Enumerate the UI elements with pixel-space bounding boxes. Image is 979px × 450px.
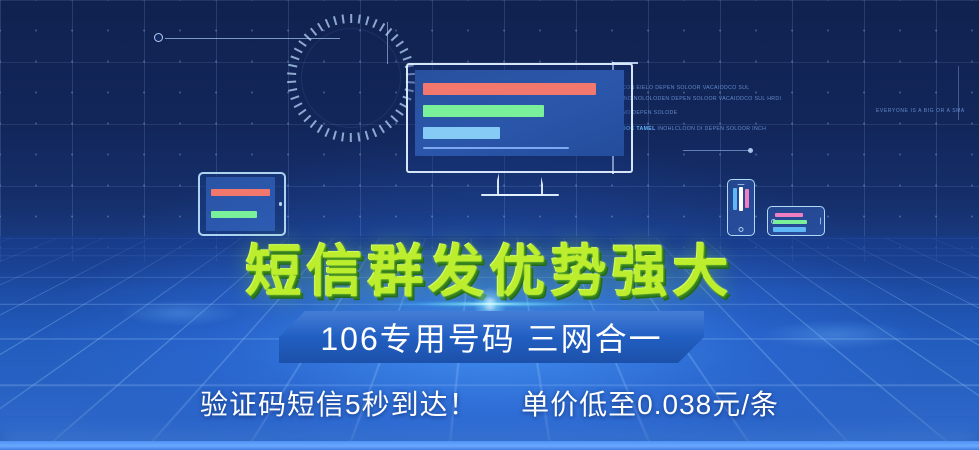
ring-tick (403, 56, 412, 61)
ring-tick (350, 133, 352, 142)
blueprint-line-2: INDINOLOLODEN DEPEN SOLOOR VACAIODCO SUL… (622, 95, 802, 104)
ring-tick (290, 96, 299, 101)
phone-landscape-frame (767, 206, 825, 236)
subline-left: 验证码短信5秒到达！ (200, 389, 478, 420)
ring-tick (372, 19, 377, 28)
tablet-home-button-icon (279, 202, 282, 205)
phone-landscape (767, 206, 825, 236)
ring-tick (294, 103, 303, 109)
phone-landscape-bar-2 (773, 220, 807, 224)
ring-tick (391, 115, 399, 122)
ring-tick (298, 109, 306, 115)
blueprint-line-3: NO DEPEN SOLODE (622, 109, 802, 118)
ring-tick (317, 125, 323, 134)
ring-inner-circle (301, 28, 401, 128)
blueprint-underline (683, 150, 751, 151)
monitor-bar-3 (423, 127, 500, 139)
ring-tick (325, 19, 330, 28)
ring-tick (317, 23, 323, 32)
blueprint-line-1: CON EIELO DEPEN SOLOOR VACAIODCO SUL (622, 84, 802, 93)
monitor-screen (415, 70, 624, 156)
phone-portrait (727, 179, 755, 236)
phone-home-button-icon (739, 227, 744, 232)
tablet-device (198, 172, 286, 236)
phone-landscape-bar-3 (773, 227, 806, 231)
ring-tick (288, 88, 297, 91)
bottom-highlight-band (0, 441, 979, 450)
ribbon-label: 106专用号码 三网合一 (279, 311, 704, 363)
ring-tick (379, 23, 385, 32)
tablet-bar-2 (211, 211, 257, 218)
ring-tick (304, 115, 312, 122)
ring-tick (333, 131, 337, 140)
ring-tick (287, 73, 296, 75)
subline-text: 验证码短信5秒到达！ 单价低至0.038元/条 (0, 383, 979, 423)
ring-tick (379, 125, 385, 134)
connector-drop-line (387, 22, 388, 64)
ring-tick (358, 132, 361, 141)
connector-dot-icon (154, 33, 163, 42)
phone-portrait-bar-3 (745, 189, 749, 208)
monitor-stand-base (481, 194, 559, 196)
phone-speaker-icon (738, 184, 745, 185)
headline-text: 短信群发优势强大 (0, 244, 979, 300)
ring-tick (385, 120, 392, 128)
ring-tick (287, 81, 296, 83)
phone-portrait-frame (727, 179, 755, 236)
ring-tick (372, 128, 377, 137)
monitor-stand-neck (497, 172, 543, 196)
sms-promo-banner: CON EIELO DEPEN SOLOOR VACAIODCO SUL IND… (0, 0, 979, 450)
subline-right: 单价低至0.038元/条 (521, 389, 779, 420)
ring-tick (395, 109, 403, 115)
ring-tick (395, 40, 403, 46)
phone-landscape-speaker-icon (820, 218, 821, 225)
ring-tick (341, 14, 344, 23)
tablet-screen (206, 177, 275, 231)
blueprint-far-text: EVERYONE IS A BIG OR A SMA (876, 108, 965, 114)
phone-portrait-bar-1 (733, 188, 737, 209)
floor-smudge-right (760, 320, 910, 350)
phone-landscape-bar-1 (775, 213, 804, 217)
floor-smudge-left (120, 300, 240, 326)
desktop-monitor (406, 63, 633, 173)
ring-tick (310, 120, 317, 128)
ring-tick (341, 132, 344, 141)
monitor-bar-2 (423, 105, 544, 117)
ring-tick (298, 40, 306, 46)
ring-tick (310, 28, 317, 36)
ring-tick (358, 14, 361, 23)
ring-tick (290, 56, 299, 61)
blueprint-line-4: DOC TAMEL INOHLCLOON DI DEPEN SOLOOR INC… (622, 125, 802, 134)
ring-tick (325, 128, 330, 137)
ring-tick (350, 14, 352, 23)
radial-tick-ring-icon (287, 14, 415, 142)
ring-tick (365, 16, 369, 25)
ring-tick (333, 16, 337, 25)
ring-tick (391, 34, 399, 41)
connector-line (165, 38, 340, 39)
tablet-bar-1 (211, 189, 270, 196)
monitor-bar-1 (423, 83, 596, 95)
monitor-line-1 (423, 147, 569, 149)
ring-tick (365, 131, 369, 140)
ring-tick (399, 48, 408, 54)
ring-tick (288, 64, 297, 67)
phone-portrait-bar-2 (739, 187, 743, 211)
ring-tick (294, 48, 303, 54)
